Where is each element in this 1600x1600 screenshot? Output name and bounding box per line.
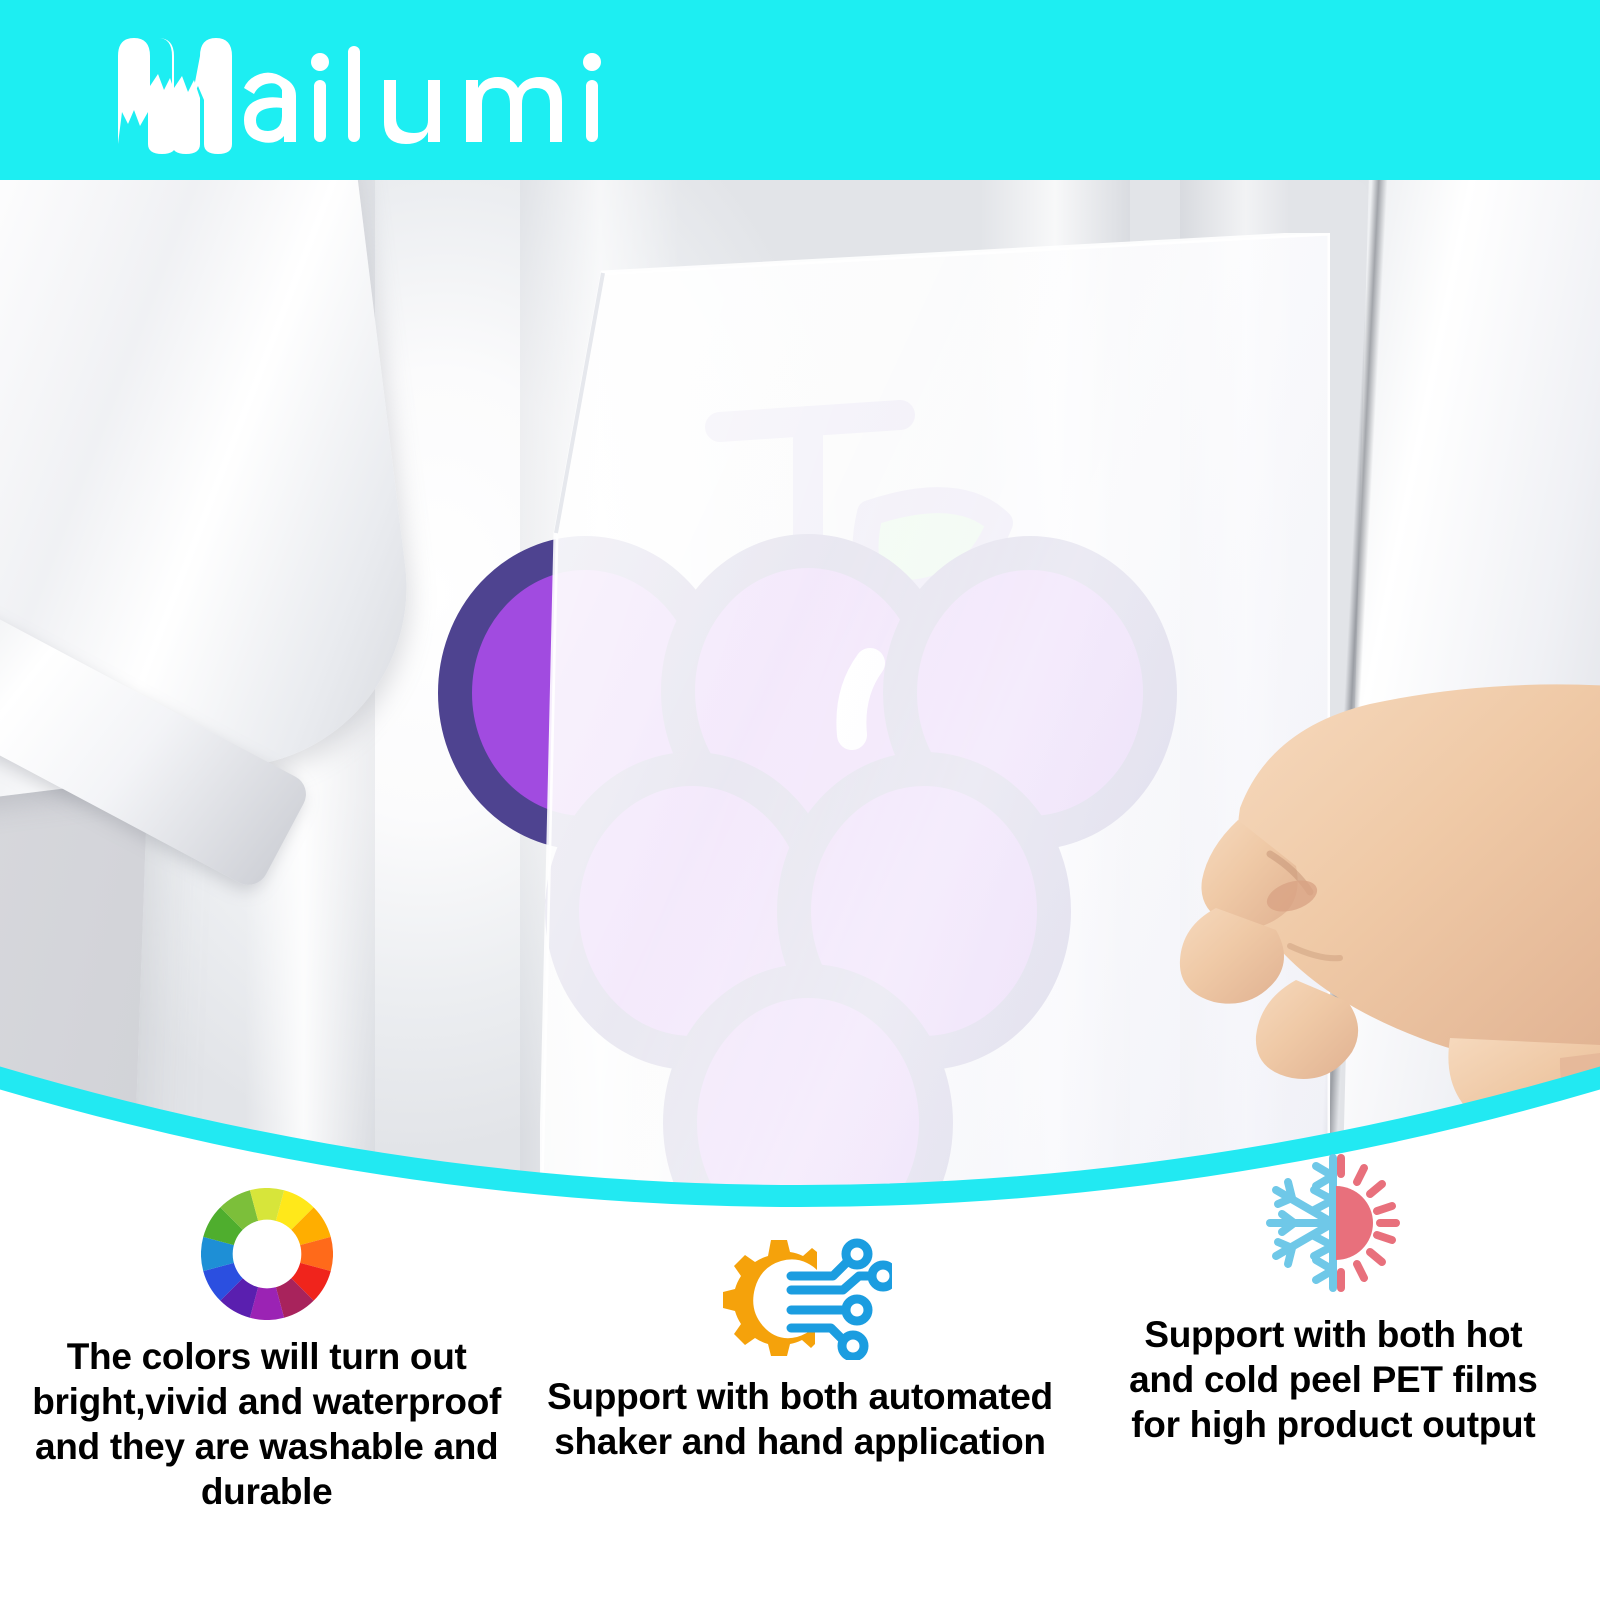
feature-peel-text: Support with both hot and cold peel PET … [1118,1312,1548,1447]
product-photo [0,178,1600,1218]
snowflake-sun-icon [1258,1148,1408,1298]
gear-circuit-icon [707,1232,892,1360]
hand-peeling-film [1120,608,1600,1168]
feature-colors: The colors will turn out bright,vivid an… [0,1180,533,1515]
product-infographic: The colors will turn out bright,vivid an… [0,0,1600,1600]
feature-application: Support with both automated shaker and h… [533,1180,1066,1464]
feature-colors-text: The colors will turn out bright,vivid an… [32,1334,502,1515]
mailumi-logo [88,26,648,158]
feature-peel: Support with both hot and cold peel PET … [1067,1148,1600,1447]
color-wheel-icon [201,1188,333,1320]
feature-application-text: Support with both automated shaker and h… [540,1374,1060,1464]
feature-row: The colors will turn out bright,vivid an… [0,1180,1600,1600]
brand-header [0,0,1600,180]
